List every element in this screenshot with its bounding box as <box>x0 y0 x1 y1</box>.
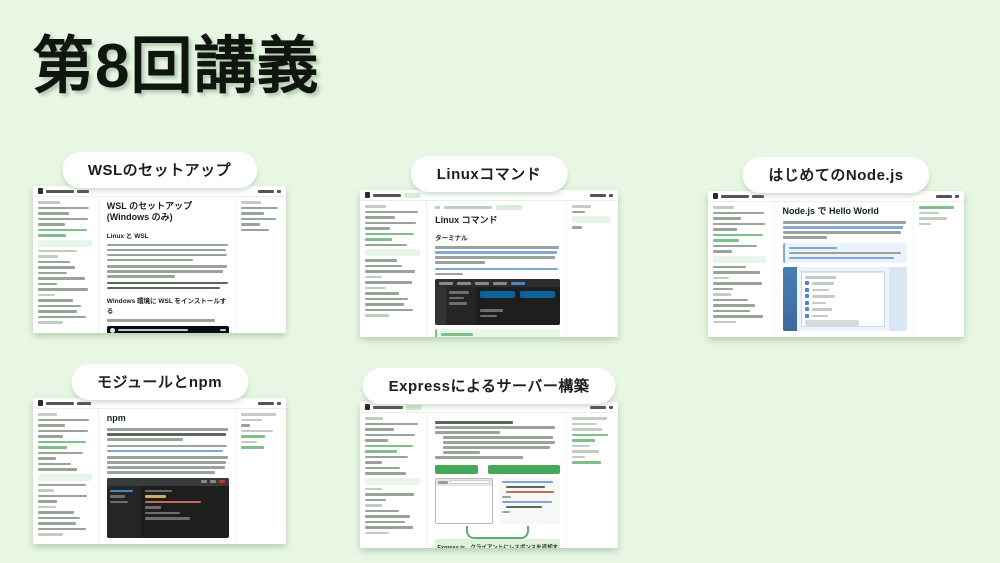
doc-sidebar[interactable] <box>360 402 427 548</box>
doc-paragraph <box>107 319 230 322</box>
sidebar-item[interactable] <box>713 315 763 318</box>
sidebar-group <box>38 294 55 297</box>
sidebar-item[interactable] <box>365 222 416 225</box>
browser-mock[interactable] <box>435 478 493 524</box>
code-sample <box>499 478 561 524</box>
sidebar-item[interactable] <box>38 207 89 210</box>
doc-toc[interactable] <box>913 191 964 337</box>
sidebar-item[interactable] <box>38 430 88 433</box>
sidebar-item[interactable] <box>365 216 395 219</box>
sidebar-item-selected[interactable] <box>365 249 420 256</box>
sidebar-item-selected[interactable] <box>38 240 92 247</box>
sidebar-item[interactable] <box>365 309 413 312</box>
sidebar-item[interactable] <box>365 303 404 306</box>
toc-item-active[interactable] <box>572 434 608 437</box>
card-label-first-nodejs[interactable]: はじめてのNode.js <box>742 157 929 193</box>
toc-item-active[interactable] <box>572 439 595 442</box>
sidebar-group <box>713 206 734 209</box>
sidebar-item[interactable] <box>38 299 73 302</box>
toc-title <box>572 417 607 420</box>
vscode-screenshot <box>435 279 560 325</box>
card-label-express-server[interactable]: Expressによるサーバー構築 <box>363 368 616 404</box>
sidebar-item[interactable] <box>713 245 757 248</box>
sidebar-group <box>713 293 731 296</box>
toc-item[interactable] <box>919 223 931 226</box>
toc-item[interactable] <box>572 226 582 229</box>
doc-sidebar[interactable] <box>33 186 99 333</box>
doc-toc[interactable] <box>235 186 286 333</box>
sidebar-item[interactable] <box>38 528 86 531</box>
doc-paragraph <box>107 244 230 262</box>
doc-paragraph <box>107 456 230 474</box>
sidebar-item[interactable] <box>38 316 86 319</box>
sidebar-item[interactable] <box>713 288 733 291</box>
sidebar-item[interactable] <box>38 424 65 427</box>
sidebar-item-active[interactable] <box>713 239 739 242</box>
toc-item[interactable] <box>572 211 584 214</box>
toc-item[interactable] <box>241 218 276 221</box>
sidebar-item[interactable] <box>365 526 413 529</box>
video-player[interactable]: 18:31 <box>107 326 230 334</box>
topbar-icon[interactable] <box>955 195 959 198</box>
sidebar-item[interactable] <box>365 227 390 230</box>
sidebar-item[interactable] <box>38 310 77 313</box>
doc-toc[interactable] <box>566 190 618 337</box>
toc-item[interactable] <box>241 207 277 210</box>
doc-paragraph <box>435 268 560 276</box>
doc-page: Node.js で Hello World <box>708 191 964 337</box>
toc-title <box>572 205 591 208</box>
run-button[interactable] <box>435 465 478 474</box>
topbar-chip[interactable] <box>404 193 420 198</box>
toc-item[interactable] <box>572 445 590 448</box>
topbar-actions[interactable] <box>258 190 281 193</box>
slide-root: 第8回講義 WSLのセットアップ <box>0 0 1000 563</box>
sidebar-item[interactable] <box>365 314 389 317</box>
explorer-desktop-bg <box>783 267 798 331</box>
toc-item[interactable] <box>919 217 947 220</box>
toc-item[interactable] <box>241 223 259 226</box>
doc-toc[interactable] <box>566 402 618 548</box>
card-thumbnail-express-server[interactable]: Express.js、クライアントにレスポンスを返却する <box>360 402 618 548</box>
site-logo-icon <box>38 400 43 406</box>
toc-item[interactable] <box>241 441 257 444</box>
doc-paragraph <box>107 428 230 441</box>
breadcrumb[interactable] <box>435 205 560 210</box>
sidebar-item-active[interactable] <box>38 229 87 232</box>
sidebar-item[interactable] <box>365 532 389 535</box>
site-logo-icon <box>38 188 43 194</box>
toc-title <box>241 413 276 416</box>
doc-list <box>435 421 560 459</box>
sidebar-item[interactable] <box>713 228 737 231</box>
sidebar-item[interactable] <box>38 223 65 226</box>
sidebar-item[interactable] <box>365 270 415 273</box>
topbar-menu[interactable] <box>258 190 274 193</box>
toc-item-active[interactable] <box>241 446 264 449</box>
doc-section-1: ターミナル <box>435 232 560 242</box>
toc-item-active[interactable] <box>572 216 611 223</box>
doc-content: Node.js で Hello World <box>775 191 913 337</box>
doc-content: WSL のセットアップ (Windows のみ) Linux と WSL Win… <box>99 186 236 333</box>
explorer-window <box>801 271 885 327</box>
sidebar-group <box>365 504 382 507</box>
sidebar-item[interactable] <box>38 288 88 291</box>
terminal-screenshot <box>107 478 230 538</box>
doc-section-1: Linux と WSL <box>107 230 230 240</box>
start-server-button[interactable] <box>488 465 561 474</box>
sidebar-item-selected[interactable] <box>713 256 766 263</box>
topbar-link[interactable] <box>752 195 764 198</box>
toc-item[interactable] <box>919 212 939 215</box>
site-logo-icon <box>365 404 370 410</box>
sidebar-item-active[interactable] <box>365 450 397 453</box>
explorer-file-list <box>802 273 884 329</box>
topbar-menu[interactable] <box>590 194 606 197</box>
sidebar-item[interactable] <box>713 250 732 253</box>
doc-paragraph <box>435 246 560 264</box>
doc-page: npm <box>33 398 286 544</box>
doc-sidebar[interactable] <box>360 190 427 337</box>
sidebar-item[interactable] <box>38 266 75 269</box>
doc-paragraph <box>783 221 907 239</box>
sidebar-item[interactable] <box>38 218 88 221</box>
doc-page: WSL のセットアップ (Windows のみ) Linux と WSL Win… <box>33 186 286 333</box>
sidebar-item-selected[interactable] <box>38 474 92 481</box>
sidebar-item-active[interactable] <box>38 441 86 444</box>
sidebar-item[interactable] <box>713 271 760 274</box>
sidebar-item[interactable] <box>713 321 736 324</box>
topbar-chip[interactable] <box>406 405 422 410</box>
sidebar-item-active[interactable] <box>38 446 67 449</box>
explorer-desktop-right <box>889 267 906 331</box>
site-name-text <box>721 195 749 198</box>
toc-title <box>241 201 261 204</box>
site-name-text <box>373 406 403 409</box>
vscode-titlebar <box>435 279 560 287</box>
sidebar-item[interactable] <box>38 468 77 471</box>
doc-heading: WSL のセットアップ (Windows のみ) <box>107 201 230 224</box>
doc-paragraph <box>107 445 230 453</box>
card-label-linux-commands[interactable]: Linuxコマンド <box>411 156 568 192</box>
doc-paragraph <box>107 265 230 278</box>
topbar-icon[interactable] <box>609 194 613 197</box>
topbar-icon[interactable] <box>277 402 281 405</box>
sidebar-item[interactable] <box>38 500 57 503</box>
sidebar-item[interactable] <box>38 452 83 455</box>
topbar-menu[interactable] <box>590 406 606 409</box>
sidebar-item[interactable] <box>365 472 406 475</box>
card-thumbnail-first-nodejs[interactable]: Node.js で Hello World <box>708 191 964 337</box>
sidebar-item[interactable] <box>365 493 414 496</box>
doc-content: Express.js、クライアントにレスポンスを返却する <box>427 402 566 548</box>
sidebar-item[interactable] <box>365 292 399 295</box>
topbar-icon[interactable] <box>277 190 281 193</box>
sidebar-item-selected[interactable] <box>365 478 420 485</box>
doc-toc[interactable] <box>235 398 286 544</box>
sidebar-group <box>365 287 386 290</box>
sidebar-item[interactable] <box>365 521 405 524</box>
action-buttons[interactable] <box>435 465 560 474</box>
vscode-editor <box>476 287 560 325</box>
sidebar-item[interactable] <box>365 244 407 247</box>
topbar-menu[interactable] <box>936 195 952 198</box>
doc-sidebar[interactable] <box>708 191 775 337</box>
doc-heading: Node.js で Hello World <box>783 206 907 217</box>
topbar-menu[interactable] <box>258 402 274 405</box>
sidebar-item-active[interactable] <box>365 445 413 448</box>
sidebar-item[interactable] <box>38 250 77 253</box>
sidebar-item[interactable] <box>38 484 86 487</box>
windows-explorer-screenshot <box>783 267 907 331</box>
page-title: 第8回講義 <box>32 33 319 101</box>
sidebar-item[interactable] <box>365 265 402 268</box>
info-callout <box>435 329 560 337</box>
sidebar-item[interactable] <box>365 211 418 214</box>
sidebar-item[interactable] <box>38 321 63 324</box>
topbar-icon[interactable] <box>609 406 613 409</box>
sidebar-item[interactable] <box>38 517 80 520</box>
toc-item[interactable] <box>241 229 269 232</box>
sidebar-item-active[interactable] <box>713 234 763 237</box>
site-name-text <box>46 402 74 405</box>
topbar-actions[interactable] <box>590 194 613 197</box>
sidebar-item[interactable] <box>713 304 755 307</box>
sidebar-item[interactable] <box>365 467 400 470</box>
sidebar-item[interactable] <box>365 281 412 284</box>
card-thumbnail-linux-commands[interactable]: Linux コマンド ターミナル <box>360 190 618 337</box>
topbar-actions[interactable] <box>936 195 959 198</box>
sidebar-item[interactable] <box>713 299 748 302</box>
sidebar-item[interactable] <box>713 223 765 226</box>
terminal-output <box>141 486 229 538</box>
site-name-text <box>373 194 401 197</box>
sidebar-item[interactable] <box>38 419 89 422</box>
sidebar-item[interactable] <box>713 310 750 313</box>
sidebar-item[interactable] <box>365 423 418 426</box>
sidebar-item[interactable] <box>365 259 397 262</box>
topbar-link <box>77 190 89 193</box>
card-thumbnail-wsl-setup[interactable]: WSL のセットアップ (Windows のみ) Linux と WSL Win… <box>33 186 286 333</box>
sidebar-item[interactable] <box>38 277 85 280</box>
terminal-sidebar <box>107 486 141 538</box>
sidebar-group <box>365 417 383 420</box>
doc-page: Express.js、クライアントにレスポンスを返却する <box>360 402 618 548</box>
sidebar-item[interactable] <box>38 533 63 536</box>
toc-item[interactable] <box>572 423 596 426</box>
toc-item[interactable] <box>241 424 250 427</box>
toc-item[interactable] <box>241 419 262 422</box>
sidebar-item[interactable] <box>38 212 69 215</box>
card-label-modules-npm[interactable]: モジュールとnpm <box>71 364 248 400</box>
sidebar-item-active[interactable] <box>365 238 392 241</box>
video-title-bar <box>107 326 230 334</box>
sidebar-item[interactable] <box>38 457 56 460</box>
sidebar-item[interactable] <box>38 495 87 498</box>
sidebar-item[interactable] <box>713 266 746 269</box>
sidebar-item[interactable] <box>365 434 415 437</box>
sidebar-item[interactable] <box>365 298 408 301</box>
toc-item[interactable] <box>241 212 264 215</box>
toc-item[interactable] <box>572 428 602 431</box>
toc-item[interactable] <box>241 430 273 433</box>
sidebar-group <box>38 506 56 509</box>
sidebar-item[interactable] <box>713 217 741 220</box>
sidebar-item[interactable] <box>38 522 76 525</box>
doc-section-2: Windows 環境に WSL をインストールする <box>107 295 230 315</box>
browser-toolbar <box>436 479 492 486</box>
sidebar-item[interactable] <box>365 499 386 502</box>
topbar-actions[interactable] <box>590 406 613 409</box>
vscode-activity-bar <box>435 287 446 325</box>
diagram-caption: Express.js、クライアントにレスポンスを返却する <box>435 539 560 549</box>
site-logo-icon <box>713 193 718 199</box>
toc-item-active[interactable] <box>572 461 600 464</box>
sidebar-item-active[interactable] <box>38 234 66 237</box>
sidebar-group <box>38 201 60 204</box>
brace-connector <box>466 526 529 539</box>
doc-content: npm <box>99 398 236 544</box>
sidebar-item[interactable] <box>365 461 382 464</box>
browser-address-bar[interactable] <box>450 480 490 484</box>
sidebar-item[interactable] <box>713 212 764 215</box>
terminal-titlebar <box>107 478 230 486</box>
sidebar-group <box>38 255 58 258</box>
doc-heading: Linux コマンド <box>435 215 560 226</box>
toc-item[interactable] <box>572 456 584 459</box>
sidebar-item[interactable] <box>365 428 394 431</box>
sidebar-item[interactable] <box>365 456 408 459</box>
toc-item-active[interactable] <box>241 435 265 438</box>
topbar-link[interactable] <box>77 402 91 405</box>
site-logo-icon <box>365 192 370 198</box>
topbar-actions[interactable] <box>258 402 281 405</box>
toc-item[interactable] <box>572 450 599 453</box>
doc-sidebar[interactable] <box>33 398 99 544</box>
sidebar-item[interactable] <box>38 261 70 264</box>
sidebar-item[interactable] <box>38 283 57 286</box>
doc-heading: npm <box>107 413 230 424</box>
sidebar-item[interactable] <box>365 510 399 513</box>
sidebar-item[interactable] <box>38 463 71 466</box>
sidebar-group <box>365 488 382 491</box>
doc-content: Linux コマンド ターミナル <box>427 190 566 337</box>
sidebar-item[interactable] <box>38 511 74 514</box>
card-thumbnail-modules-npm[interactable]: npm <box>33 398 286 544</box>
vscode-explorer <box>446 287 476 325</box>
sidebar-group <box>365 205 386 208</box>
video-avatar-icon <box>110 328 115 333</box>
sidebar-item[interactable] <box>365 515 410 518</box>
sidebar-item[interactable] <box>38 435 63 438</box>
site-name-text <box>46 190 74 193</box>
sidebar-group <box>38 489 54 492</box>
sidebar-item[interactable] <box>38 305 81 308</box>
sidebar-item[interactable] <box>365 439 388 442</box>
doc-paragraph <box>107 282 230 290</box>
breadcrumb-chip[interactable] <box>496 205 522 210</box>
sidebar-group <box>38 413 57 416</box>
card-label-wsl-setup[interactable]: WSLのセットアップ <box>62 152 257 188</box>
doc-page: Linux コマンド ターミナル <box>360 190 618 337</box>
sidebar-group <box>365 276 382 279</box>
sidebar-item[interactable] <box>38 272 67 275</box>
sidebar-item-active[interactable] <box>365 233 414 236</box>
sidebar-group <box>713 277 729 280</box>
sidebar-item[interactable] <box>713 282 762 285</box>
info-callout <box>783 243 907 264</box>
toc-item[interactable] <box>919 206 954 209</box>
